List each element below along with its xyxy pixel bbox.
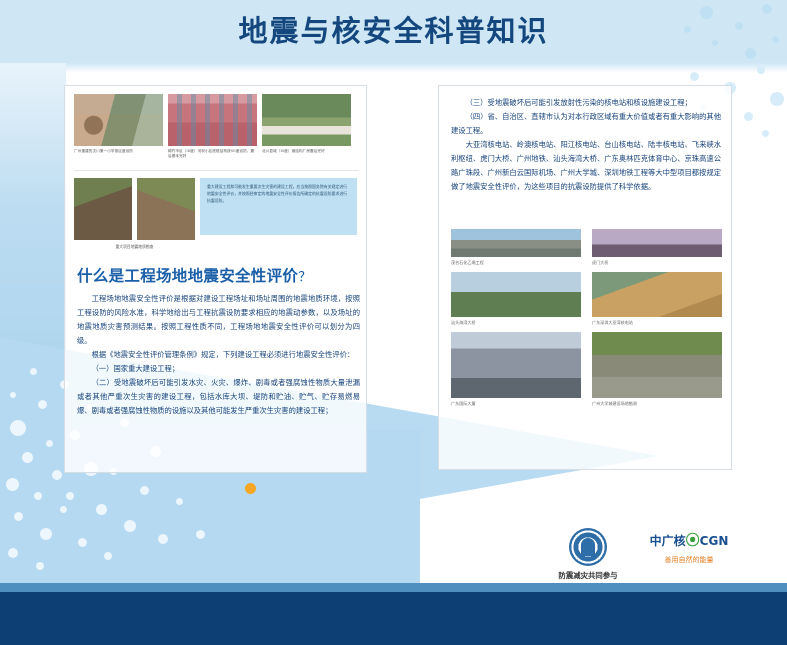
photo-shantou-bay-bridge-image <box>451 272 581 317</box>
left-panel-divider <box>74 170 359 171</box>
photo-daya-bay-npp-caption: 广东深圳大亚湾核电站 <box>592 320 722 326</box>
photo-geology-survey-2 <box>137 178 195 240</box>
photo-guangdong-intl-building-caption: 广东国际大厦 <box>451 401 581 407</box>
page-title: 地震与核安全科普知识 <box>0 8 787 50</box>
photo-guangdong-intl-building-image <box>451 332 581 398</box>
photo-geology-survey-1 <box>74 178 132 240</box>
footer-logos: 防震减灾共同参与 中广核⦿CGN 善用自然的能量 <box>515 528 745 588</box>
photo-grid-row: 茂名石化乙烯工程 虎门大桥 <box>451 229 723 266</box>
photo-humen-bridge: 虎门大桥 <box>592 229 722 266</box>
photo-university-town-survey-caption: 广州大学城建设场地勘测 <box>592 401 722 407</box>
photo-beichuan-plant: 北川县城（XI度）钢结构厂房震后完好 <box>262 94 351 159</box>
orange-accent-dot <box>245 483 256 494</box>
photo-university-town-survey: 广州大学城建设场地勘测 <box>592 332 722 407</box>
left-content-panel: 广州援建的汶川第一小学按区度设防 绵竹市区（IX度）河坝小区底框结构按VII度设… <box>64 85 367 473</box>
photo-mianzhu-housing-caption: 绵竹市区（IX度）河坝小区底框结构按VII度设防，震后基本完好 <box>168 149 257 159</box>
photo-maoming-ethylene: 茂名石化乙烯工程 <box>451 229 581 266</box>
left-paragraph-1: 工程场地地震安全性评价是根据对建设工程场址和场址周围的地震地质环境，按照工程设防… <box>77 292 360 348</box>
earthquake-agency-logo: 防震减灾共同参与 <box>533 528 643 581</box>
photo-grid-row: 汕头海湾大桥 广东深圳大亚湾核电站 <box>451 272 723 326</box>
footer-bar <box>0 592 787 645</box>
geology-photo-pair: 重大项目地震地质勘查 <box>74 178 195 250</box>
notice-box: 重大建设工程和可能发生重要次生灾害的建设工程，应当按照国务院有关规定进行地震安全… <box>200 178 357 235</box>
photo-mianzhu-housing: 绵竹市区（IX度）河坝小区底框结构按VII度设防，震后基本完好 <box>168 94 257 159</box>
photo-wenchuan-school-image <box>74 94 163 146</box>
section-heading-text: 什么是工程场地地震安全性评价 <box>77 267 298 285</box>
photo-humen-bridge-caption: 虎门大桥 <box>592 260 722 266</box>
photo-grid-row: 广东国际大厦 广州大学城建设场地勘测 <box>451 332 723 407</box>
photo-maoming-ethylene-image <box>451 229 581 257</box>
photo-humen-bridge-image <box>592 229 722 257</box>
right-paragraph-3: 大亚湾核电站、岭澳核电站、阳江核电站、台山核电站、陆丰核电站、飞来峡水利枢纽、虎… <box>451 138 721 194</box>
photo-mianzhu-housing-image <box>168 94 257 146</box>
photo-maoming-ethylene-caption: 茂名石化乙烯工程 <box>451 260 581 266</box>
agency-slogan: 防震减灾共同参与 <box>533 570 643 581</box>
right-content-panel: （三）受地震破坏后可能引发放射性污染的核电站和核设施建设工程； （四）省、自治区… <box>438 85 732 470</box>
cgn-swirl-icon: ⦿ <box>686 533 700 549</box>
header-fade <box>0 63 787 73</box>
geology-photo-caption: 重大项目地震地质勘查 <box>74 244 195 250</box>
left-body-text: 工程场地地震安全性评价是根据对建设工程场址和场址周围的地震地质环境，按照工程设防… <box>77 292 360 418</box>
left-paragraph-3: （一）国家重大建设工程； <box>77 362 360 376</box>
agency-seal-icon <box>569 528 607 566</box>
left-second-row: 重大项目地震地质勘查 重大建设工程和可能发生重要次生灾害的建设工程，应当按照国务… <box>74 178 359 250</box>
photo-university-town-survey-image <box>592 332 722 398</box>
photo-shantou-bay-bridge: 汕头海湾大桥 <box>451 272 581 326</box>
photo-geology-survey-1-image <box>74 178 132 240</box>
right-paragraph-2: （四）省、自治区、直辖市认为对本行政区域有重大价值或者有重大影响的其他建设工程。 <box>451 110 721 138</box>
photo-beichuan-plant-caption: 北川县城（XI度）钢结构厂房震后完好 <box>262 149 351 154</box>
right-paragraph-1: （三）受地震破坏后可能引发放射性污染的核电站和核设施建设工程； <box>451 96 721 110</box>
cgn-slogan: 善用自然的能量 <box>633 555 745 565</box>
section-heading: 什么是工程场地地震安全性评价？ <box>77 264 367 286</box>
photo-beichuan-plant-image <box>262 94 351 146</box>
photo-daya-bay-npp: 广东深圳大亚湾核电站 <box>592 272 722 326</box>
cgn-chinese-name: 中广核 <box>650 534 686 548</box>
cgn-wordmark: 中广核⦿CGN <box>633 530 745 550</box>
photo-shantou-bay-bridge-caption: 汕头海湾大桥 <box>451 320 581 326</box>
left-paragraph-2: 根据《地震安全性评价管理条例》规定，下列建设工程必须进行地震安全性评价： <box>77 348 360 362</box>
left-photo-row: 广州援建的汶川第一小学按区度设防 绵竹市区（IX度）河坝小区底框结构按VII度设… <box>74 94 359 159</box>
cgn-english-name: CGN <box>700 534 729 548</box>
photo-guangdong-intl-building: 广东国际大厦 <box>451 332 581 407</box>
left-paragraph-4: （二）受地震破坏后可能引发水灾、火灾、爆炸、剧毒或者强腐蚀性物质大量泄漏或者其他… <box>77 376 360 418</box>
right-body-text: （三）受地震破坏后可能引发放射性污染的核电站和核设施建设工程； （四）省、自治区… <box>451 96 721 194</box>
cgn-logo: 中广核⦿CGN 善用自然的能量 <box>633 530 745 565</box>
photo-wenchuan-school: 广州援建的汶川第一小学按区度设防 <box>74 94 163 159</box>
poster-canvas: 地震与核安全科普知识 广州援建的汶川第一小学按区度设防 绵竹市区（IX度）河坝小… <box>0 0 787 645</box>
section-heading-question-mark: ？ <box>298 270 311 285</box>
photo-daya-bay-npp-image <box>592 272 722 317</box>
photo-geology-survey-2-image <box>137 178 195 240</box>
right-photo-grid: 茂名石化乙烯工程 虎门大桥 汕头海湾大桥 广东深圳大亚湾核电站 <box>451 229 723 413</box>
photo-wenchuan-school-caption: 广州援建的汶川第一小学按区度设防 <box>74 149 163 154</box>
